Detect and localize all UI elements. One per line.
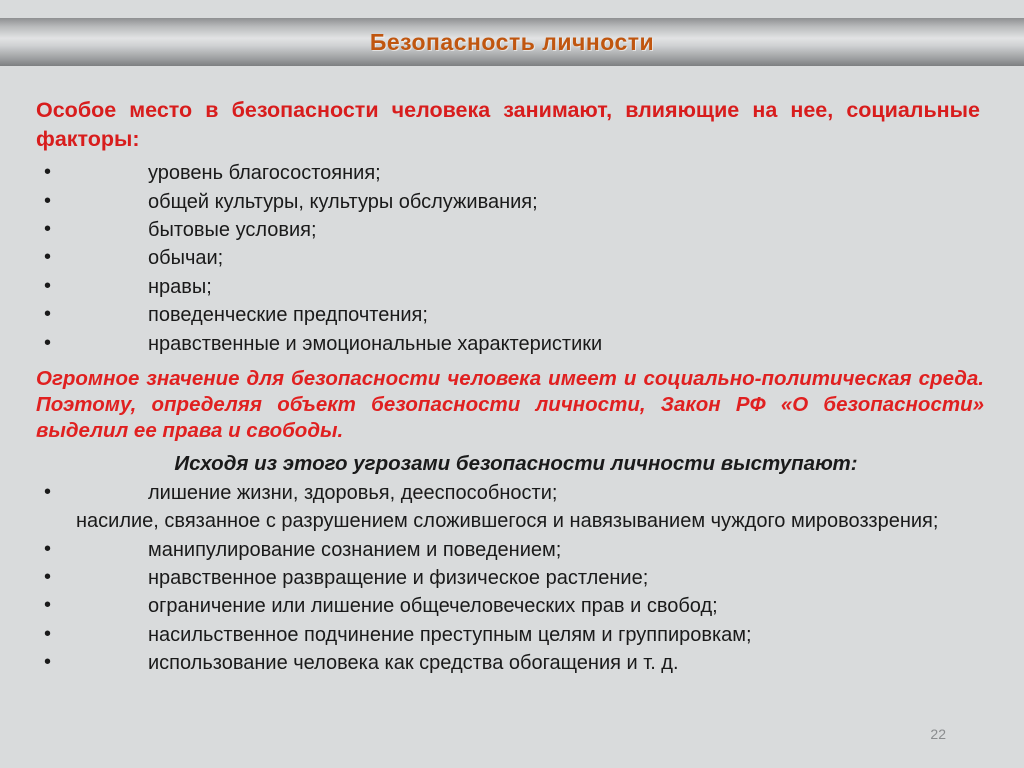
list-item: •обычаи; <box>36 244 996 272</box>
list-item: •нравственные и эмоциональные характерис… <box>36 330 996 358</box>
list-item-label: общей культуры, культуры обслуживания; <box>148 191 538 213</box>
bullet-icon: • <box>44 591 51 619</box>
list-item-label: уровень благосостояния; <box>148 162 381 184</box>
list-item-label: использование человека как средства обог… <box>148 652 679 674</box>
list-item: •общей культуры, культуры обслуживания; <box>36 188 996 216</box>
list-item: •нравы; <box>36 273 996 301</box>
list-item: •уровень благосостояния; <box>36 159 996 187</box>
list-item-label: насилие, связанное с разрушением сложивш… <box>76 510 938 532</box>
list-item-label: бытовые условия; <box>148 219 317 241</box>
list-item: •бытовые условия; <box>36 216 996 244</box>
list-item-label: манипулирование сознанием и поведением; <box>148 539 561 561</box>
intro-paragraph: Особое место в безопасности человека зан… <box>36 96 996 153</box>
threats-heading: Исходя из этого угрозами безопасности ли… <box>36 451 996 477</box>
bullet-icon: • <box>44 187 51 215</box>
list-item: •поведенческие предпочтения; <box>36 301 996 329</box>
list-item-label: лишение жизни, здоровья, дееспособности; <box>148 482 557 504</box>
list-item-label: ограничение или лишение общечеловеческих… <box>148 595 718 617</box>
list-item-label: насильственное подчинение преступным цел… <box>148 624 752 646</box>
list-item: •ограничение или лишение общечеловечески… <box>36 592 996 620</box>
list-item: •лишение жизни, здоровья, дееспособности… <box>36 479 996 507</box>
bullet-icon: • <box>44 478 51 506</box>
page-title: Безопасность личности <box>370 29 654 56</box>
bullet-icon: • <box>44 158 51 186</box>
list-item-label: нравственное развращение и физическое ра… <box>148 567 648 589</box>
bullet-icon: • <box>44 563 51 591</box>
list-item: •насилие, связанное с разрушением сложив… <box>36 507 996 535</box>
bullet-icon: • <box>44 535 51 563</box>
note-paragraph: Огромное значение для безопасности челов… <box>36 366 996 445</box>
list-item: •насильственное подчинение преступным це… <box>36 621 996 649</box>
list-item-label: поведенческие предпочтения; <box>148 304 428 326</box>
list-item-label: нравственные и эмоциональные характерист… <box>148 333 602 355</box>
bullet-icon: • <box>44 272 51 300</box>
slide-content: Особое место в безопасности человека зан… <box>0 66 1024 768</box>
slide-title-bar: Безопасность личности <box>0 18 1024 66</box>
social-factors-list: •уровень благосостояния; •общей культуры… <box>36 159 996 358</box>
bullet-icon: • <box>44 648 51 676</box>
bullet-icon: • <box>44 243 51 271</box>
list-item: •использование человека как средства обо… <box>36 649 996 677</box>
page-number: 22 <box>930 726 946 742</box>
list-item: •нравственное развращение и физическое р… <box>36 564 996 592</box>
bullet-icon: • <box>44 300 51 328</box>
list-item-label: обычаи; <box>148 247 223 269</box>
bullet-icon: • <box>44 620 51 648</box>
bullet-icon: • <box>44 215 51 243</box>
threats-list: •лишение жизни, здоровья, дееспособности… <box>36 479 996 678</box>
list-item: •манипулирование сознанием и поведением; <box>36 536 996 564</box>
list-item-label: нравы; <box>148 276 212 298</box>
slide: Безопасность личности Особое место в без… <box>0 0 1024 768</box>
bullet-icon: • <box>44 329 51 357</box>
